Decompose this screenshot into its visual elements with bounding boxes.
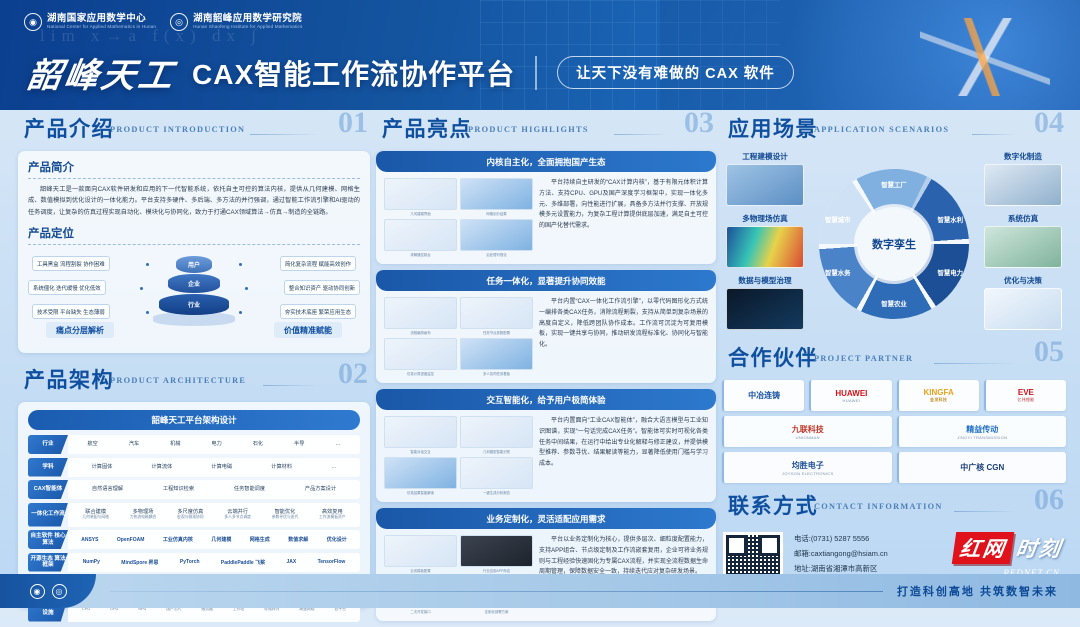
cell-discipline-4: … — [331, 464, 336, 471]
rednet-watermark: 红网 时刻 — [954, 532, 1062, 564]
shot-caption-2-0: 流程编排画布 — [384, 330, 457, 335]
value-point-2: 整合知识资产 驱动协同创新 — [284, 280, 360, 295]
highlight-text-1: 平台持续自主研发的“CAX计算内核”，基于有限元体积计算方法、支持CPU、GPU… — [539, 178, 708, 257]
pain-summary-pill: 痛点分层解析 — [46, 322, 114, 338]
logo-shaofeng-institute: ◎ 湖南韶峰应用数学研究院 Hunan Shaofeng Institute f… — [170, 13, 302, 31]
chip-core-0: ANSYS — [81, 537, 98, 543]
page-header: lim x→a f(x) dx ∫ ◉ 湖南国家应用数学中心 National … — [0, 0, 1080, 110]
highlight-text-2: 平台内置“CAX一体化工作流引擎”，以零代码图形化方式统一编排各类CAX任务，消… — [539, 297, 708, 376]
shot-caption-3-3: 一键生成分析报告 — [460, 490, 533, 495]
footer-slogan: 打造科创高地 共筑数智未来 — [897, 583, 1058, 599]
highlight-card-1: 内核自主化，全面拥抱国产生态 几何建模界面 网格划分结果 求解器控制台 后处理可… — [376, 151, 716, 264]
section-header-architecture: 产品架构 PRODUCT ARCHITECTURE 02 — [18, 363, 370, 397]
row-tag-industry: 行业 — [28, 435, 68, 454]
chip-core-2: 工业仿真内核 — [163, 536, 193, 543]
section-contact-title-cn: 联系方式 — [728, 490, 818, 520]
cell-industry-3: 电力 — [211, 441, 221, 448]
section-scenarios-title-cn: 应用场景 — [728, 113, 818, 143]
highlight-screenshots-2: 流程编排画布 任务节点参数配置 仿真计算进度监控 多人协同任务看板 — [384, 297, 533, 376]
shot-image-1-2 — [384, 219, 457, 251]
highlight-body-3: 智能对话交互 几何模型智能识别 仿真结果智能解读 一键生成分析报告 平台内置面向… — [376, 410, 716, 502]
connector-dot-right-3 — [239, 311, 242, 314]
row-cells-core-software: ANSYS OpenFOAM 工业仿真内核 几何建模 网格生成 数值求解 优化设… — [68, 530, 360, 549]
value-point-1: 简化复杂流程 赋能高效创作 — [280, 256, 356, 271]
section-header-contact: 联系方式 CONTACT INFORMATION 06 — [722, 489, 1066, 523]
value-summary-pill: 价值精准赋能 — [274, 322, 342, 338]
shot-caption-1-3: 后处理可视化 — [460, 252, 533, 257]
shot-image-2-2 — [384, 338, 457, 370]
shot-wrap-1-3: 后处理可视化 — [460, 219, 533, 257]
shot-image-3-2 — [384, 457, 457, 489]
section-header-scenarios: 应用场景 APPLICATION SCENARIOS 04 — [722, 112, 1066, 146]
chip-framework-5: TensorFlow — [318, 559, 346, 565]
shot-caption-1-2: 求解器控制台 — [384, 252, 457, 257]
footer-institute-emblem-icon: ◎ — [52, 584, 67, 599]
column-left: 产品介绍 PRODUCT INTRODUCTION 01 产品简介 韶峰天工是一… — [18, 112, 370, 608]
section-highlights-title-cn: 产品亮点 — [382, 113, 472, 143]
architecture-row-agent: CAX智能体 自然语言理解 工程知识检索 任务智能调度 产品方案设计 — [28, 480, 360, 499]
section-highlights-rule — [614, 134, 668, 135]
shot-caption-4-1: 行业应用APP商店 — [460, 568, 533, 573]
section-scenarios-title-en: APPLICATION SCENARIOS — [814, 125, 949, 134]
shot-wrap-3-1: 几何模型智能识别 — [460, 416, 533, 454]
architecture-row-discipline: 学科 计算固体 计算流体 计算电磁 计算材料 … — [28, 458, 360, 477]
highlight-body-1: 几何建模界面 网格划分结果 求解器控制台 后处理可视化 平台持续自主研发的“CA… — [376, 172, 716, 264]
watermark-white-text: 时刻 — [1014, 533, 1064, 563]
footer-logo-badge: ◉ ◎ — [0, 574, 96, 608]
section-architecture-number: 02 — [338, 357, 368, 391]
partner-row-1: 中冶连铸 HUAWEI HUAWEI KINGFA 金发科技 EVE 亿纬锂能 — [722, 380, 1066, 411]
row-cells-frameworks: NumPy MindSpore 昇思 PyTorch PaddlePaddle … — [68, 553, 360, 572]
section-intro-title-cn: 产品介绍 — [24, 113, 114, 143]
section-header-intro: 产品介绍 PRODUCT INTRODUCTION 01 — [18, 112, 370, 146]
cell-workflow-2: 多尺度仿真 宏观与微观协同 — [177, 509, 204, 520]
logo-national-center-cn: 湖南国家应用数学中心 — [47, 14, 156, 24]
partner-logo-0-2: KINGFA 金发科技 — [897, 380, 979, 411]
position-title: 产品定位 — [28, 225, 360, 241]
header-logos: ◉ 湖南国家应用数学中心 National Center for Applied… — [24, 13, 302, 31]
logo-national-center: ◉ 湖南国家应用数学中心 National Center for Applied… — [24, 13, 156, 31]
scenario-label-multiphysics: 多物理场仿真 — [726, 213, 804, 224]
shot-caption-2-1: 任务节点参数配置 — [460, 330, 533, 335]
segment-label-smart-city: 智慧城市 — [825, 215, 851, 224]
partner-logo-1-1: 精益传动 JINGYI TRANSMISSION — [897, 416, 1067, 447]
row-tag-workflow: 一体化工作流 — [28, 503, 68, 527]
contact-phone: 电话:(0731) 5287 5556 — [794, 531, 888, 546]
institute-emblem-icon: ◎ — [170, 13, 188, 31]
footer-center-emblem-icon: ◉ — [30, 584, 45, 599]
segment-label-smart-agriculture: 智慧农业 — [881, 299, 907, 308]
shot-image-2-0 — [384, 297, 457, 329]
partner-row-3: 均胜电子 JOYSON ELECTRONICS 中广核 CGN — [722, 452, 1066, 483]
cell-discipline-1: 计算流体 — [151, 464, 172, 471]
cell-workflow-1: 多物理场 力热流电磁耦合 — [130, 509, 157, 520]
scenario-label-digital-manufacturing: 数字化制造 — [984, 151, 1062, 162]
partner-row-2: 九联科技 UNIONMAN 精益传动 JINGYI TRANSMISSION — [722, 416, 1066, 447]
brand-calligraphy: 韶峰天工 — [24, 48, 180, 97]
highlight-card-2: 任务一体化，显著提升协同效能 流程编排画布 任务节点参数配置 仿真计算进度监控 … — [376, 270, 716, 383]
shot-wrap-2-2: 仿真计算进度监控 — [384, 338, 457, 376]
segment-label-smart-factory: 智慧工厂 — [881, 180, 907, 189]
connector-dot-left-3 — [146, 311, 149, 314]
scenario-label-engineering-modeling: 工程建模设计 — [726, 151, 804, 162]
header-title-row: 韶峰天工 CAX智能工作流协作平台 让天下没有难做的 CAX 软件 — [28, 48, 794, 97]
scenario-image-multiphysics — [726, 226, 804, 268]
cell-industry-6: … — [335, 441, 340, 448]
scenario-image-digital-manufacturing — [984, 164, 1062, 206]
shot-caption-1-1: 网格划分结果 — [460, 211, 533, 216]
partner-logo-0-0: 中冶连铸 — [722, 380, 804, 411]
cell-agent-3: 产品方案设计 — [305, 486, 336, 493]
section-intro-rule — [250, 134, 318, 135]
shot-wrap-2-3: 多人协同任务看板 — [460, 338, 533, 376]
highlight-title-3: 交互智能化，给予用户极简体验 — [376, 389, 716, 410]
cell-industry-4: 石化 — [253, 441, 263, 448]
cell-workflow-0: 联合建模 几何装配与网格 — [82, 509, 109, 520]
contact-lines: 电话:(0731) 5287 5556 邮箱:caxtiangong@hsiam… — [794, 531, 888, 577]
shot-caption-1-0: 几何建模界面 — [384, 211, 457, 216]
row-tag-frameworks: 开源生态 算法框架 — [28, 553, 68, 572]
pain-point-1: 工具黑盒 流程割裂 协作困难 — [32, 256, 110, 271]
scenario-column-right: 数字化制造 系统仿真 优化与决策 — [984, 151, 1062, 337]
highlight-text-3: 平台内置面向“工业CAX智能体”，融合大语言模型与工业知识图谱，实现“一句话完成… — [539, 416, 708, 495]
section-partners-rule — [934, 363, 1016, 364]
highlight-body-2: 流程编排画布 任务节点参数配置 仿真计算进度监控 多人协同任务看板 平台内置“C… — [376, 291, 716, 383]
shot-caption-2-3: 多人协同任务看板 — [460, 371, 533, 376]
shot-caption-2-2: 仿真计算进度监控 — [384, 371, 457, 376]
scenario-image-engineering-modeling — [726, 164, 804, 206]
digital-twin-donut: 数字孪生 智慧工厂 智慧水利 智慧电力 智慧农业 智慧水务 智慧城市 — [819, 169, 969, 319]
poster-root: lim x→a f(x) dx ∫ ◉ 湖南国家应用数学中心 National … — [0, 0, 1080, 608]
shot-wrap-2-1: 任务节点参数配置 — [460, 297, 533, 335]
row-tag-discipline: 学科 — [28, 458, 68, 477]
section-partners-number: 05 — [1034, 335, 1064, 369]
shot-caption-4-2: 二次开发接口 — [384, 609, 457, 614]
section-header-partners: 合作伙伴 PROJECT PARTNER 05 — [722, 341, 1066, 375]
cell-workflow-5: 高效复用 工作流模板资产 — [319, 509, 346, 520]
pyramid-graphic: 行业 企业 用户 — [154, 256, 234, 322]
scenario-column-left: 工程建模设计 多物理场仿真 数据与模型治理 — [726, 151, 804, 337]
logo-shaofeng-institute-en: Hunan Shaofeng Institute for Applied Mat… — [193, 24, 302, 30]
cell-discipline-2: 计算电磁 — [211, 464, 232, 471]
shot-caption-3-2: 仿真结果智能解读 — [384, 490, 457, 495]
chip-framework-3: PaddlePaddle 飞桨 — [221, 559, 265, 566]
chip-framework-4: JAX — [286, 559, 296, 565]
row-cells-workflow: 联合建模 几何装配与网格 多物理场 力热流电磁耦合 多尺度仿真 宏观与微观协同 … — [68, 503, 360, 527]
cell-industry-0: 航空 — [87, 441, 97, 448]
shot-wrap-4-1: 行业应用APP商店 — [460, 535, 533, 573]
shot-caption-3-0: 智能对话交互 — [384, 449, 457, 454]
shot-image-1-0 — [384, 178, 457, 210]
shot-image-1-1 — [460, 178, 533, 210]
pyramid-level-industry: 行业 — [159, 294, 229, 315]
section-partners-title-en: PROJECT PARTNER — [814, 354, 913, 363]
connector-dot-left-1 — [146, 263, 149, 266]
row-tag-core-software: 自主软件 核心算法 — [28, 530, 68, 549]
chip-core-5: 数值求解 — [288, 536, 308, 543]
partner-logo-1-0: 九联科技 UNIONMAN — [722, 416, 892, 447]
scenario-label-optimization-decision: 优化与决策 — [984, 275, 1062, 286]
center-emblem-icon: ◉ — [24, 13, 42, 31]
row-cells-industry: 航空 汽车 机械 电力 石化 半导 … — [68, 435, 360, 454]
positioning-diagram: 行业 企业 用户 工具黑盒 流程割裂 协作困难 系统僵化 迭代缓慢 优化低效 技… — [28, 250, 360, 338]
section-highlights-title-en: PRODUCT HIGHLIGHTS — [468, 125, 589, 134]
architecture-row-workflow: 一体化工作流 联合建模 几何装配与网格 多物理场 力热流电磁耦合 多尺度仿真 宏… — [28, 503, 360, 527]
section-contact-rule — [954, 511, 1016, 512]
cell-discipline-3: 计算材料 — [271, 464, 292, 471]
highlight-screenshots-1: 几何建模界面 网格划分结果 求解器控制台 后处理可视化 — [384, 178, 533, 257]
shot-wrap-3-0: 智能对话交互 — [384, 416, 457, 454]
section-highlights-number: 03 — [684, 106, 714, 140]
chip-core-1: OpenFOAM — [117, 537, 145, 543]
position-divider — [28, 244, 360, 245]
shot-image-2-1 — [460, 297, 533, 329]
shot-wrap-3-3: 一键生成分析报告 — [460, 457, 533, 495]
intro-card: 产品简介 韶峰天工是一款面向CAX软件研发和应用的下一代智能系统，依托自主可控的… — [18, 151, 370, 353]
title-divider — [535, 56, 537, 90]
scenario-image-data-governance — [726, 288, 804, 330]
cell-workflow-3: 云端并行 多人多节点调度 — [224, 509, 251, 520]
highlight-title-2: 任务一体化，显著提升协同效能 — [376, 270, 716, 291]
section-architecture-title-en: PRODUCT ARCHITECTURE — [110, 376, 246, 385]
logo-national-center-en: National Center for Applied Mathematics … — [47, 24, 156, 30]
cell-industry-5: 半导 — [294, 441, 304, 448]
chip-core-4: 网格生成 — [250, 536, 270, 543]
scenario-image-optimization-decision — [984, 288, 1062, 330]
chip-core-3: 几何建模 — [211, 536, 231, 543]
shot-image-3-3 — [460, 457, 533, 489]
connector-dot-right-2 — [245, 287, 248, 290]
page-footer: ◉ ◎ 打造科创高地 共筑数智未来 — [0, 574, 1080, 608]
cell-agent-0: 自然语言理解 — [92, 486, 123, 493]
shot-image-4-1 — [460, 535, 533, 567]
section-header-highlights: 产品亮点 PRODUCT HIGHLIGHTS 03 — [376, 112, 716, 146]
brief-text: 韶峰天工是一款面向CAX软件研发和应用的下一代智能系统，依托自主可控的算法内核，… — [28, 184, 360, 218]
highlight-title-1: 内核自主化，全面拥抱国产生态 — [376, 151, 716, 172]
shot-image-2-3 — [460, 338, 533, 370]
section-intro-title-en: PRODUCT INTRODUCTION — [110, 125, 245, 134]
shot-image-1-3 — [460, 219, 533, 251]
row-tag-agent: CAX智能体 — [28, 480, 68, 499]
connector-dot-left-2 — [140, 287, 143, 290]
cell-agent-1: 工程知识检索 — [163, 486, 194, 493]
cell-industry-1: 汽车 — [129, 441, 139, 448]
column-right: 应用场景 APPLICATION SCENARIOS 04 工程建模设计 多物理… — [722, 112, 1066, 593]
highlight-card-3: 交互智能化，给予用户极简体验 智能对话交互 几何模型智能识别 仿真结果智能解读 … — [376, 389, 716, 502]
contact-email: 邮箱:caxtiangong@hsiam.cn — [794, 546, 888, 561]
chip-framework-0: NumPy — [83, 559, 100, 565]
row-cells-agent: 自然语言理解 工程知识检索 任务智能调度 产品方案设计 — [68, 480, 360, 499]
section-scenarios-rule — [972, 134, 1016, 135]
section-contact-title-en: CONTACT INFORMATION — [814, 502, 943, 511]
brief-title: 产品简介 — [28, 159, 360, 175]
chip-framework-2: PyTorch — [180, 559, 200, 565]
shot-image-3-1 — [460, 416, 533, 448]
scenarios-diagram: 工程建模设计 多物理场仿真 数据与模型治理 数字孪生 智慧工厂 智慧水利 智慧电… — [722, 151, 1066, 337]
pyramid-level-enterprise: 企业 — [168, 274, 220, 293]
architecture-banner: 韶峰天工平台架构设计 — [28, 410, 360, 430]
cell-discipline-0: 计算固体 — [92, 464, 113, 471]
connector-dot-right-1 — [239, 263, 242, 266]
partner-logo-0-3: EVE 亿纬锂能 — [984, 380, 1066, 411]
partner-logo-2-1: 中广核 CGN — [897, 452, 1067, 483]
scenario-label-data-governance: 数据与模型治理 — [726, 275, 804, 286]
shot-wrap-1-0: 几何建模界面 — [384, 178, 457, 216]
platform-title: CAX智能工作流协作平台 — [192, 53, 515, 93]
pyramid-level-user: 用户 — [176, 256, 212, 273]
highlight-title-4: 业务定制化，灵活适配应用需求 — [376, 508, 716, 529]
row-cells-discipline: 计算固体 计算流体 计算电磁 计算材料 … — [68, 458, 360, 477]
section-intro-number: 01 — [338, 106, 368, 140]
watermark-red-text: 红网 — [952, 532, 1014, 564]
shot-wrap-3-2: 仿真结果智能解读 — [384, 457, 457, 495]
highlight-screenshots-3: 智能对话交互 几何模型智能识别 仿真结果智能解读 一键生成分析报告 — [384, 416, 533, 495]
section-partners-title-cn: 合作伙伴 — [728, 342, 818, 372]
pain-point-3: 技术受限 平台缺失 生态薄弱 — [32, 304, 110, 319]
shot-wrap-1-2: 求解器控制台 — [384, 219, 457, 257]
cell-workflow-4: 智能优化 参数寻优与迭代 — [272, 509, 299, 520]
value-point-3: 夯实技术底座 繁荣应用生态 — [280, 304, 356, 319]
segment-label-smart-power: 智慧电力 — [937, 268, 963, 277]
shot-wrap-2-0: 流程编排画布 — [384, 297, 457, 335]
architecture-row-core-software: 自主软件 核心算法 ANSYS OpenFOAM 工业仿真内核 几何建模 网格生… — [28, 530, 360, 549]
segment-label-smart-water: 智慧水利 — [937, 215, 963, 224]
shot-image-3-0 — [384, 416, 457, 448]
scenario-image-system-simulation — [984, 226, 1062, 268]
architecture-row-industry: 行业 航空 汽车 机械 电力 石化 半导 … — [28, 435, 360, 454]
cell-industry-2: 机械 — [170, 441, 180, 448]
section-contact-number: 06 — [1034, 483, 1064, 517]
cell-agent-2: 任务智能调度 — [234, 486, 265, 493]
header-tagline: 让天下没有难做的 CAX 软件 — [557, 56, 794, 89]
brief-divider — [28, 178, 360, 179]
shot-wrap-4-0: 业务模板配置 — [384, 535, 457, 573]
donut-center-label: 数字孪生 — [857, 207, 931, 281]
pain-point-2: 系统僵化 迭代缓慢 优化低效 — [28, 280, 106, 295]
segment-label-smart-utilities: 智慧水务 — [825, 268, 851, 277]
chip-core-6: 优化设计 — [327, 536, 347, 543]
shot-wrap-1-1: 网格划分结果 — [460, 178, 533, 216]
logo-shaofeng-institute-cn: 湖南韶峰应用数学研究院 — [193, 14, 302, 24]
section-scenarios-number: 04 — [1034, 106, 1064, 140]
column-middle: 产品亮点 PRODUCT HIGHLIGHTS 03 内核自主化，全面拥抱国产生… — [376, 112, 716, 627]
section-architecture-title-cn: 产品架构 — [24, 364, 114, 394]
section-architecture-rule — [263, 385, 318, 386]
shot-caption-3-1: 几何模型智能识别 — [460, 449, 533, 454]
scenario-label-system-simulation: 系统仿真 — [984, 213, 1062, 224]
footer-rule — [110, 591, 883, 592]
partner-logo-0-1: HUAWEI HUAWEI — [809, 380, 891, 411]
chip-framework-1: MindSpore 昇思 — [121, 559, 158, 566]
partners-grid: 中冶连铸 HUAWEI HUAWEI KINGFA 金发科技 EVE 亿纬锂能 — [722, 380, 1066, 483]
architecture-row-frameworks: 开源生态 算法框架 NumPy MindSpore 昇思 PyTorch Pad… — [28, 553, 360, 572]
shot-caption-4-3: 定制化部署方案 — [460, 609, 533, 614]
partner-logo-2-0: 均胜电子 JOYSON ELECTRONICS — [722, 452, 892, 483]
shot-caption-4-0: 业务模板配置 — [384, 568, 457, 573]
shot-image-4-0 — [384, 535, 457, 567]
